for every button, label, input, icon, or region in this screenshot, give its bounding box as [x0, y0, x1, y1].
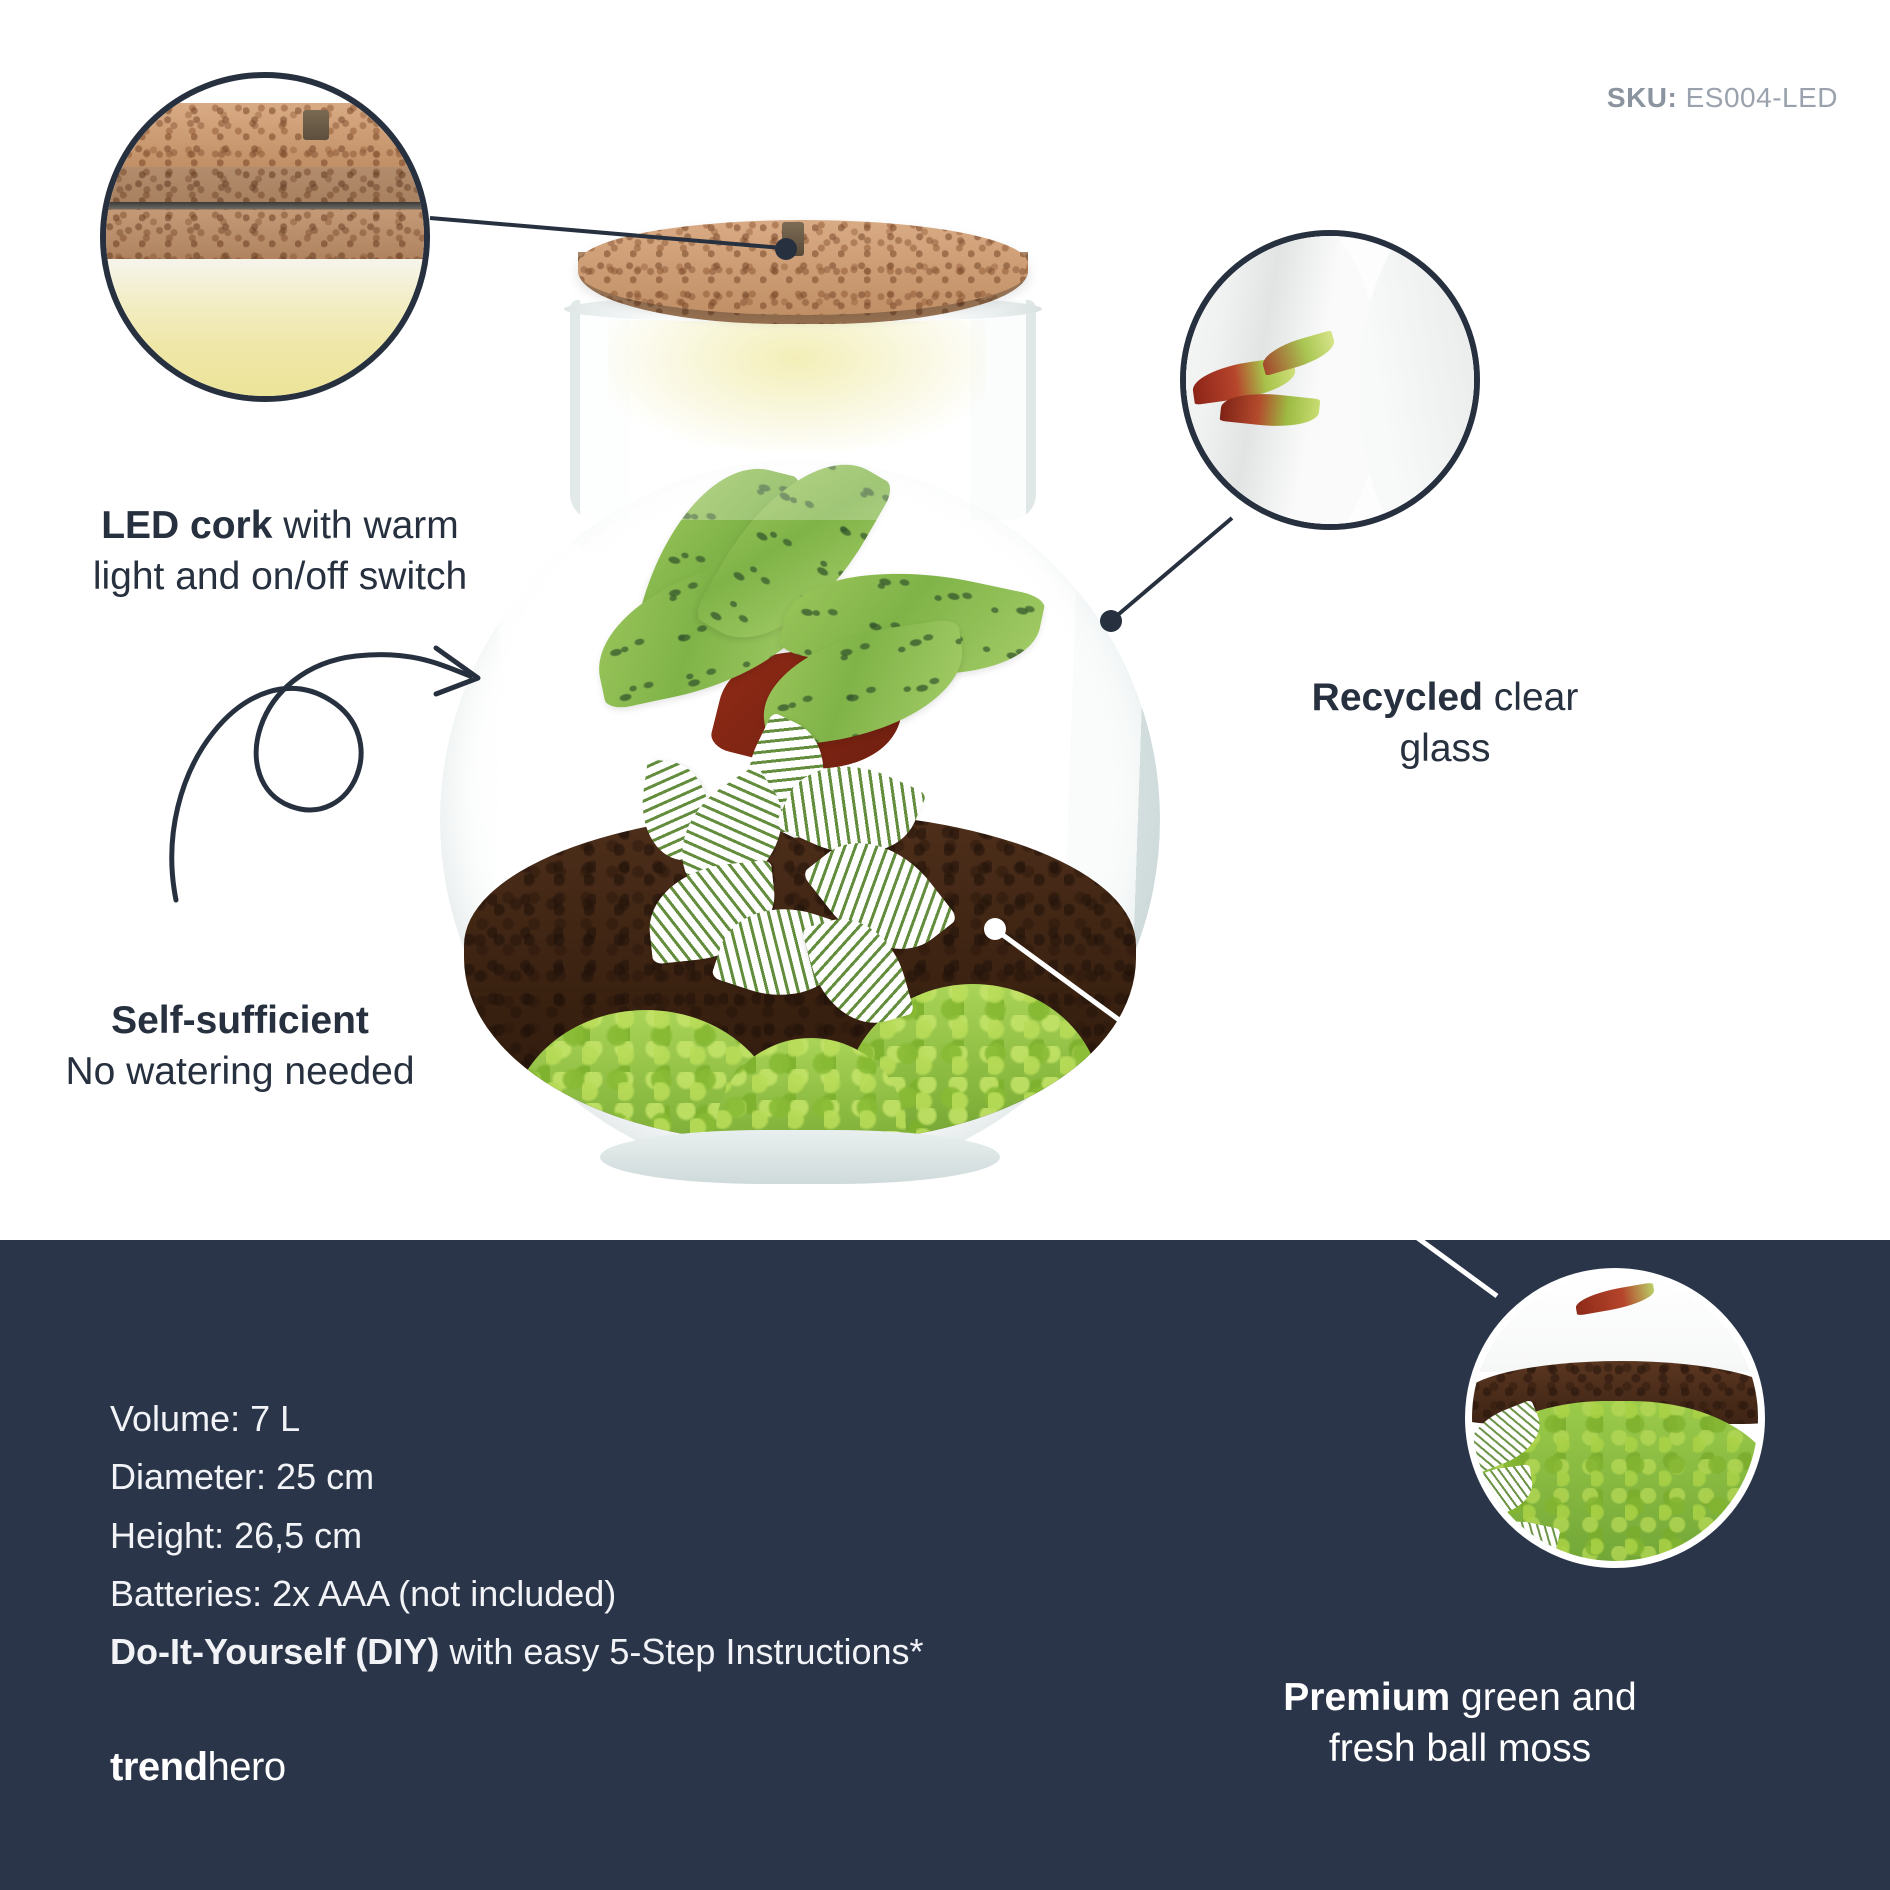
callout-self-line2: No watering needed [20, 1046, 460, 1097]
spec-diameter: Diameter: 25 cm [110, 1448, 1010, 1506]
callout-glass-line1: Recycled clear [1165, 672, 1725, 723]
callout-moss-line1: Premium green and [1120, 1672, 1800, 1723]
callout-moss-rest: green and [1450, 1676, 1637, 1719]
spec-diy: Do-It-Yourself (DIY) with easy 5-Step In… [110, 1623, 1010, 1681]
callout-led-cork: LED cork with warm light and on/off swit… [40, 500, 520, 603]
onoff-switch-icon[interactable] [782, 222, 804, 256]
cork-top-surface [100, 103, 430, 167]
callout-self-line1: Self-sufficient [20, 995, 460, 1046]
callout-moss-strong: Premium [1283, 1676, 1450, 1719]
warm-light-glow [608, 320, 986, 450]
led-cork-inset [100, 72, 430, 402]
ball-moss-closeup-icon [1472, 1275, 1758, 1561]
callout-glass-rest: clear [1483, 676, 1578, 719]
jar-base [600, 1130, 1000, 1184]
callout-self-sufficient: Self-sufficient No watering needed [20, 995, 460, 1098]
callout-premium-moss: Premium green and fresh ball moss [1120, 1672, 1800, 1775]
spec-diy-rest: with easy 5-Step Instructions* [439, 1631, 923, 1672]
curved-arrow-icon [172, 655, 470, 900]
infographic-canvas: SKU: ES004-LED [0, 0, 1890, 1890]
callout-led-strong: LED cork [101, 504, 272, 547]
cork-lower-surface [100, 210, 430, 264]
callout-moss-line2: fresh ball moss [1120, 1723, 1800, 1774]
onoff-switch-icon [303, 110, 329, 140]
sku-label: SKU: ES004-LED [1607, 82, 1838, 114]
brand-logo: trendhero [110, 1745, 286, 1790]
callout-led-line2: light and on/off switch [40, 551, 520, 602]
sku-value: ES004-LED [1686, 82, 1838, 113]
callout-self-strong: Self-sufficient [111, 999, 369, 1042]
spec-batteries: Batteries: 2x AAA (not included) [110, 1565, 1010, 1623]
warm-light-glow [100, 259, 430, 402]
logo-trend: trend [110, 1745, 208, 1789]
callout-glass-strong: Recycled [1312, 676, 1483, 719]
spec-height: Height: 26,5 cm [110, 1507, 1010, 1565]
sku-key: SKU: [1607, 82, 1677, 113]
logo-hero: hero [208, 1745, 286, 1789]
terrarium-product-image [430, 200, 1170, 1200]
led-cork-closeup-icon [106, 78, 424, 396]
cork-seam [100, 202, 430, 209]
fittonia-plant [638, 730, 968, 1030]
recycled-glass-closeup-icon [1186, 236, 1474, 524]
callout-glass-line2: glass [1165, 723, 1725, 774]
specification-list: Volume: 7 L Diameter: 25 cm Height: 26,5… [110, 1390, 1010, 1682]
ball-moss-inset [1465, 1268, 1765, 1568]
recycled-glass-inset [1180, 230, 1480, 530]
callout-led-line1: LED cork with warm [40, 500, 520, 551]
spec-volume: Volume: 7 L [110, 1390, 1010, 1448]
callout-led-rest: with warm [272, 504, 458, 547]
spec-diy-strong: Do-It-Yourself (DIY) [110, 1631, 439, 1672]
callout-recycled-glass: Recycled clear glass [1165, 672, 1725, 775]
